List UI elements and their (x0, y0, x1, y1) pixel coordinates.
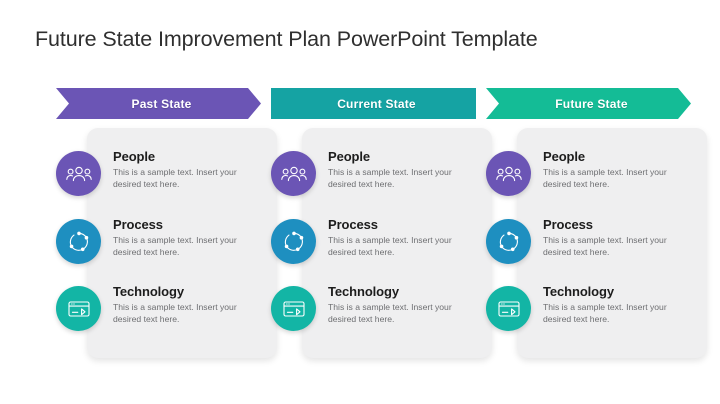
people-group-icon[interactable] (271, 151, 316, 196)
people-group-icon[interactable] (56, 151, 101, 196)
browser-window-icon[interactable] (486, 286, 531, 331)
feature-description: This is a sample text. Insert your desir… (543, 302, 681, 325)
feature-text-block: Process This is a sample text. Insert yo… (543, 217, 698, 258)
cycle-arrows-icon[interactable] (486, 219, 531, 264)
feature-title: People (543, 149, 698, 164)
state-banner-label: Current State (271, 88, 476, 119)
slide-canvas: Future State Improvement Plan PowerPoint… (0, 0, 720, 404)
feature-title: Process (328, 217, 483, 232)
feature-row-people: People This is a sample text. Insert you… (271, 149, 493, 213)
feature-row-technology: Technology This is a sample text. Insert… (56, 284, 278, 348)
feature-title: People (328, 149, 483, 164)
browser-window-icon[interactable] (56, 286, 101, 331)
feature-description: This is a sample text. Insert your desir… (328, 167, 466, 190)
feature-description: This is a sample text. Insert your desir… (328, 302, 466, 325)
state-banner-current[interactable]: Current State (271, 88, 476, 119)
feature-text-block: Process This is a sample text. Insert yo… (113, 217, 268, 258)
feature-row-process: Process This is a sample text. Insert yo… (486, 217, 708, 281)
feature-row-process: Process This is a sample text. Insert yo… (271, 217, 493, 281)
feature-row-people: People This is a sample text. Insert you… (56, 149, 278, 213)
cycle-arrows-icon[interactable] (271, 219, 316, 264)
feature-row-process: Process This is a sample text. Insert yo… (56, 217, 278, 281)
feature-description: This is a sample text. Insert your desir… (543, 235, 681, 258)
feature-title: Process (113, 217, 268, 232)
feature-text-block: People This is a sample text. Insert you… (328, 149, 483, 190)
feature-row-technology: Technology This is a sample text. Insert… (271, 284, 493, 348)
state-column-past: Past State People This is a sample text.… (56, 88, 278, 363)
page-title: Future State Improvement Plan PowerPoint… (35, 27, 538, 52)
feature-title: People (113, 149, 268, 164)
state-banner-label: Past State (56, 88, 261, 119)
feature-description: This is a sample text. Insert your desir… (113, 235, 251, 258)
feature-text-block: Technology This is a sample text. Insert… (328, 284, 483, 325)
feature-title: Technology (328, 284, 483, 299)
state-column-future: Future State People This is a sample tex… (486, 88, 708, 363)
feature-row-people: People This is a sample text. Insert you… (486, 149, 708, 213)
feature-description: This is a sample text. Insert your desir… (113, 167, 251, 190)
feature-description: This is a sample text. Insert your desir… (328, 235, 466, 258)
feature-description: This is a sample text. Insert your desir… (113, 302, 251, 325)
feature-description: This is a sample text. Insert your desir… (543, 167, 681, 190)
feature-title: Process (543, 217, 698, 232)
state-banner-past[interactable]: Past State (56, 88, 261, 119)
browser-window-icon[interactable] (271, 286, 316, 331)
state-banner-label: Future State (486, 88, 691, 119)
state-banner-future[interactable]: Future State (486, 88, 691, 119)
feature-text-block: Technology This is a sample text. Insert… (113, 284, 268, 325)
state-column-current: Current State People This is a sample te… (271, 88, 493, 363)
people-group-icon[interactable] (486, 151, 531, 196)
feature-text-block: Process This is a sample text. Insert yo… (328, 217, 483, 258)
cycle-arrows-icon[interactable] (56, 219, 101, 264)
feature-row-technology: Technology This is a sample text. Insert… (486, 284, 708, 348)
feature-text-block: Technology This is a sample text. Insert… (543, 284, 698, 325)
feature-text-block: People This is a sample text. Insert you… (113, 149, 268, 190)
feature-text-block: People This is a sample text. Insert you… (543, 149, 698, 190)
feature-title: Technology (543, 284, 698, 299)
feature-title: Technology (113, 284, 268, 299)
